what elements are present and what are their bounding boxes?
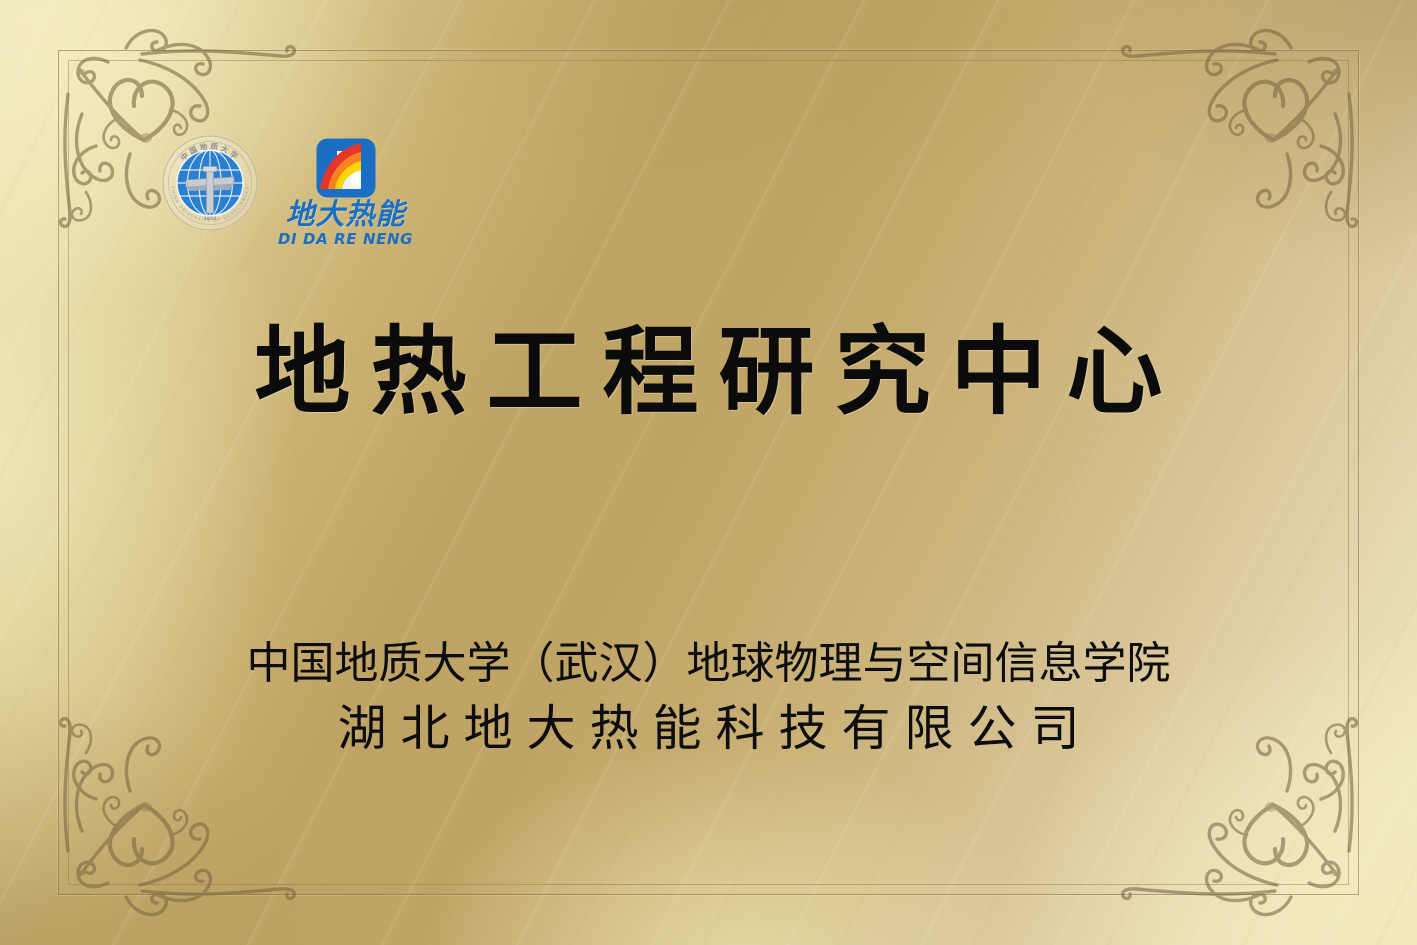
didareneng-logo: 地大热能 DI DA RE NENG	[278, 133, 413, 248]
subtitle-line-company: 湖北地大热能科技有限公司	[0, 697, 1417, 761]
china-university-of-geosciences-seal-icon: 中国地质大学 CHINA UNIVERSITY OF GEOSCIENCES 1…	[160, 133, 260, 233]
plaque-title: 地热工程研究中心	[0, 322, 1417, 423]
seal-year: 1952	[204, 216, 217, 222]
award-plaque: 中国地质大学 CHINA UNIVERSITY OF GEOSCIENCES 1…	[0, 0, 1417, 945]
subtitle-line-university: 中国地质大学（武汉）地球物理与空间信息学院	[0, 636, 1417, 691]
didareneng-name-cn: 地大热能	[286, 200, 406, 229]
didareneng-name-en: DI DA RE NENG	[278, 231, 413, 248]
didareneng-rainbow-mark-icon	[315, 137, 377, 199]
plaque-subtitle: 中国地质大学（武汉）地球物理与空间信息学院 湖北地大热能科技有限公司	[0, 636, 1417, 761]
logo-row: 中国地质大学 CHINA UNIVERSITY OF GEOSCIENCES 1…	[160, 133, 413, 248]
